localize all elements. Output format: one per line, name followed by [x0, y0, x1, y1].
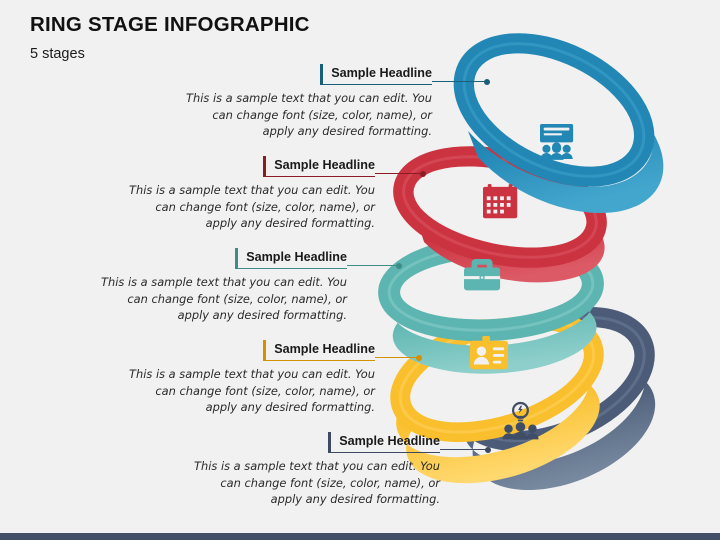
- stage-underline-5: [328, 452, 440, 453]
- stage-connector-dot-3: [396, 263, 402, 269]
- stage-body-line-3: apply any desired formatting.: [123, 215, 375, 232]
- stage-body-line-2: can change font (size, color, name), or: [95, 291, 347, 308]
- stage-accent-bar-1: [320, 64, 323, 85]
- presentation-people-icon: [540, 124, 573, 160]
- stage-headline-wrap-5: Sample Headline: [328, 432, 440, 453]
- stage-text-5: Sample Headline This is a sample text th…: [188, 432, 440, 508]
- ring-stage-5: [444, 293, 662, 490]
- ring-stage-2: [394, 141, 605, 283]
- stage-body-line-2: can change font (size, color, name), or: [188, 475, 440, 492]
- stage-headline-wrap-3: Sample Headline: [235, 248, 347, 269]
- stage-headline-5[interactable]: Sample Headline: [339, 434, 440, 448]
- stage-accent-bar-2: [263, 156, 266, 177]
- stage-body-line-2: can change font (size, color, name), or: [123, 383, 375, 400]
- ring-stage-1: [443, 17, 666, 213]
- stage-connector-dot-1: [484, 79, 490, 85]
- stage-accent-bar-4: [263, 340, 266, 361]
- stage-connector-2: [375, 173, 423, 174]
- stage-body-line-2: can change font (size, color, name), or: [123, 199, 375, 216]
- stage-connector-dot-5: [485, 447, 491, 453]
- team-idea-icon: [503, 403, 539, 440]
- stage-text-2: Sample Headline This is a sample text th…: [123, 156, 375, 232]
- stage-accent-bar-3: [235, 248, 238, 269]
- stage-underline-1: [320, 84, 432, 85]
- stage-accent-bar-5: [328, 432, 331, 453]
- stage-underline-4: [263, 360, 375, 361]
- stage-headline-4[interactable]: Sample Headline: [274, 342, 375, 356]
- stage-body-line-3: apply any desired formatting.: [180, 123, 432, 140]
- stage-connector-4: [375, 357, 419, 358]
- calendar-icon: [483, 184, 517, 218]
- id-badge-icon: [470, 336, 508, 369]
- stage-body-line-1: This is a sample text that you can edit.…: [123, 366, 375, 383]
- stage-text-4: Sample Headline This is a sample text th…: [123, 340, 375, 416]
- stage-underline-3: [235, 268, 347, 269]
- stage-body-line-3: apply any desired formatting.: [188, 491, 440, 508]
- stage-body-4[interactable]: This is a sample text that you can edit.…: [123, 366, 375, 416]
- stage-headline-3[interactable]: Sample Headline: [246, 250, 347, 264]
- stage-body-line-2: can change font (size, color, name), or: [180, 107, 432, 124]
- stage-body-line-3: apply any desired formatting.: [95, 307, 347, 324]
- stage-text-1: Sample Headline This is a sample text th…: [180, 64, 432, 140]
- stage-connector-dot-2: [420, 171, 426, 177]
- stage-connector-5: [440, 449, 488, 450]
- stage-body-line-1: This is a sample text that you can edit.…: [180, 90, 432, 107]
- stage-headline-1[interactable]: Sample Headline: [331, 66, 432, 80]
- stage-connector-3: [347, 265, 399, 266]
- stage-body-line-1: This is a sample text that you can edit.…: [95, 274, 347, 291]
- stage-body-3[interactable]: This is a sample text that you can edit.…: [95, 274, 347, 324]
- stage-body-5[interactable]: This is a sample text that you can edit.…: [188, 458, 440, 508]
- footer-bar: [0, 533, 720, 540]
- header: RING STAGE INFOGRAPHIC 5 stages: [30, 14, 310, 62]
- ring-stage-3: [387, 241, 597, 374]
- stage-headline-2[interactable]: Sample Headline: [274, 158, 375, 172]
- stage-body-line-3: apply any desired formatting.: [123, 399, 375, 416]
- slide-canvas: RING STAGE INFOGRAPHIC 5 stages: [0, 0, 720, 540]
- stage-connector-1: [432, 81, 487, 82]
- stage-headline-wrap-1: Sample Headline: [320, 64, 432, 85]
- briefcase-icon: [464, 259, 500, 290]
- stage-text-3: Sample Headline This is a sample text th…: [95, 248, 347, 324]
- stage-body-2[interactable]: This is a sample text that you can edit.…: [123, 182, 375, 232]
- page-subtitle: 5 stages: [30, 46, 310, 62]
- stage-headline-wrap-2: Sample Headline: [263, 156, 375, 177]
- page-title: RING STAGE INFOGRAPHIC: [30, 14, 310, 37]
- stage-connector-dot-4: [416, 355, 422, 361]
- stage-body-1[interactable]: This is a sample text that you can edit.…: [180, 90, 432, 140]
- stage-underline-2: [263, 176, 375, 177]
- stage-body-line-1: This is a sample text that you can edit.…: [188, 458, 440, 475]
- stage-body-line-1: This is a sample text that you can edit.…: [123, 182, 375, 199]
- stage-headline-wrap-4: Sample Headline: [263, 340, 375, 361]
